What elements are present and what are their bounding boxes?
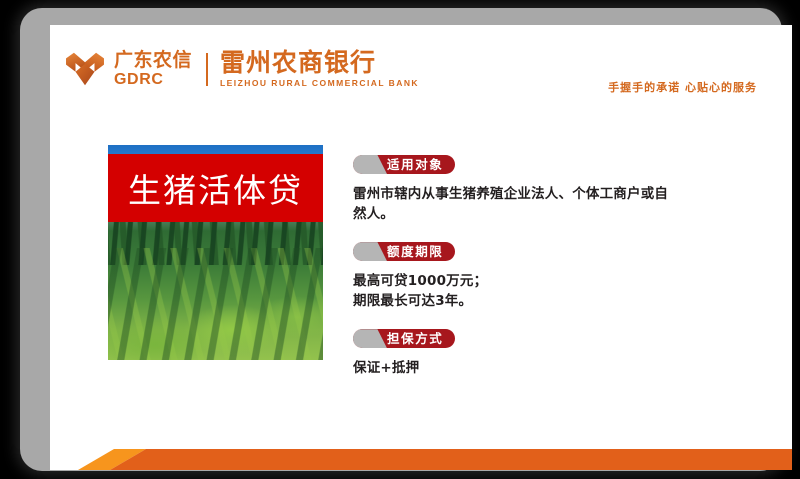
gdrc-name-en: GDRC	[114, 72, 192, 88]
slide-content: 生猪活体贷 适用对象 雷州市辖内从事生猪养殖企业法人、个体工商户或自 然人。	[50, 135, 792, 395]
slide-viewer: 广东农信 GDRC 雷州农商银行 LEIZHOU RURAL COMMERCIA…	[0, 0, 800, 479]
gdrc-heart-logo-icon	[65, 52, 105, 86]
section-badge-label: 适用对象	[387, 157, 443, 172]
gdrc-name-cn: 广东农信	[114, 51, 192, 70]
slide-frame: 广东农信 GDRC 雷州农商银行 LEIZHOU RURAL COMMERCIA…	[20, 8, 782, 471]
info-block-eligibility: 适用对象 雷州市辖内从事生猪养殖企业法人、个体工商户或自 然人。	[353, 155, 753, 224]
section-badge-label: 担保方式	[387, 331, 443, 346]
info-column: 适用对象 雷州市辖内从事生猪养殖企业法人、个体工商户或自 然人。 额度期限 最高…	[353, 155, 753, 379]
page-header: 广东农信 GDRC 雷州农商银行 LEIZHOU RURAL COMMERCIA…	[50, 25, 792, 117]
info-text-line: 然人。	[353, 205, 731, 225]
brand-lockup: 广东农信 GDRC 雷州农商银行 LEIZHOU RURAL COMMERCIA…	[65, 47, 419, 91]
bank-name-en: LEIZHOU RURAL COMMERCIAL BANK	[220, 79, 419, 88]
info-text-line: 期限最长可达3年。	[353, 292, 731, 312]
product-title-banner: 生猪活体贷	[108, 154, 323, 222]
info-block-limit-term: 额度期限 最高可贷1000万元； 期限最长可达3年。	[353, 242, 753, 311]
section-badge-guarantee: 担保方式	[353, 329, 455, 348]
header-tagline: 手握手的承诺 心贴心的服务	[608, 79, 757, 95]
gdrc-wordmark: 广东农信 GDRC	[114, 51, 192, 88]
info-block-guarantee: 担保方式 保证+抵押	[353, 329, 753, 379]
info-text-limit-term: 最高可贷1000万元； 期限最长可达3年。	[353, 272, 731, 311]
info-text-line: 雷州市辖内从事生猪养殖企业法人、个体工商户或自	[353, 185, 731, 205]
info-text-line: 保证+抵押	[353, 359, 731, 379]
footer-decorative-band	[50, 442, 792, 470]
info-text-eligibility: 雷州市辖内从事生猪养殖企业法人、个体工商户或自 然人。	[353, 185, 731, 224]
product-title: 生猪活体贷	[128, 164, 303, 212]
section-badge-eligibility: 适用对象	[353, 155, 455, 174]
info-text-guarantee: 保证+抵押	[353, 359, 731, 379]
bank-wordmark: 雷州农商银行 LEIZHOU RURAL COMMERCIAL BANK	[220, 50, 419, 88]
info-text-line: 最高可贷1000万元；	[353, 272, 731, 292]
bank-name-cn: 雷州农商银行	[220, 50, 419, 75]
slide-page: 广东农信 GDRC 雷州农商银行 LEIZHOU RURAL COMMERCIA…	[50, 25, 792, 470]
footer-band-main-stripe	[50, 449, 792, 470]
product-image-card: 生猪活体贷	[108, 145, 323, 360]
section-badge-label: 额度期限	[387, 244, 443, 259]
section-badge-limit-term: 额度期限	[353, 242, 455, 261]
brand-divider	[206, 53, 208, 86]
